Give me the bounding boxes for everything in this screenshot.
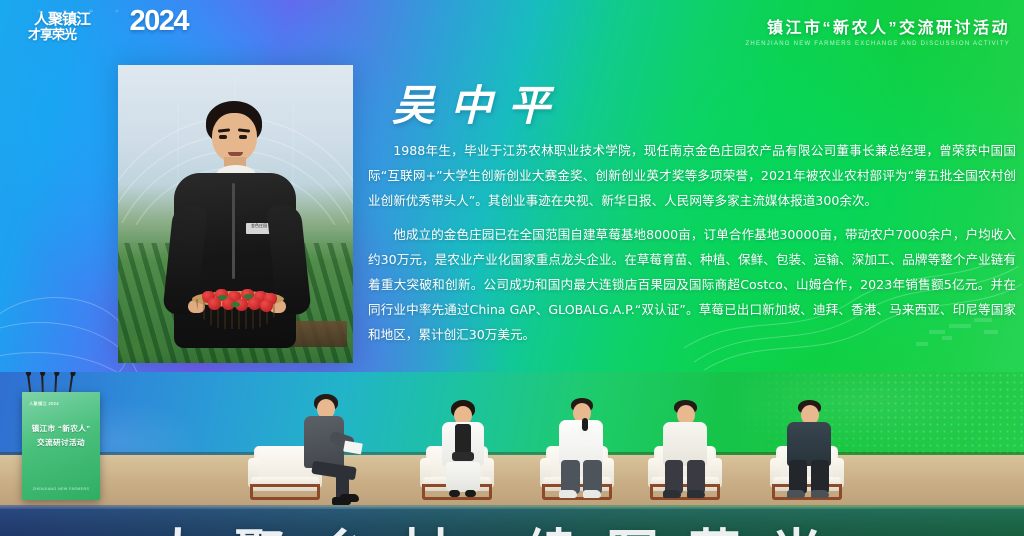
side-banner-line-2: 交流研讨活动 bbox=[22, 437, 100, 448]
panelist-2-hands bbox=[452, 452, 474, 461]
panelist-2 bbox=[438, 400, 488, 500]
portrait-subject: 金色庄园 bbox=[166, 95, 306, 363]
logo-year: 2024 bbox=[129, 5, 188, 38]
presentation-screenshot: 人聚镇江 2024 镇江市 “新农人” 交流研讨活动 ZHENJIANG NEW… bbox=[0, 0, 1024, 536]
side-banner-line-1: 镇江市 “新农人” bbox=[22, 423, 100, 434]
panelist-moderator bbox=[300, 394, 358, 502]
jacket-zipper bbox=[232, 183, 235, 279]
profile-bio: 1988年生，毕业于江苏农林职业技术学院，现任南京金色庄园农产品有限公司董事长兼… bbox=[368, 138, 1016, 347]
portrait-photo: 金色庄园 bbox=[118, 65, 353, 363]
slide-header: 镇江市“新农人”交流研讨活动 ZHENJIANG NEW FARMERS EXC… bbox=[745, 14, 1010, 47]
handheld-microphone bbox=[582, 418, 588, 431]
profile-name: 吴中平 bbox=[392, 72, 566, 133]
logo-line-2: 才享荣光 bbox=[28, 24, 76, 43]
bio-paragraph-1: 1988年生，毕业于江苏农林职业技术学院，现任南京金色庄园农产品有限公司董事长兼… bbox=[368, 138, 1016, 213]
projected-slide: 人聚镇江 才享荣光 2024 镇江市“新农人”交流研讨活动 ZHENJIANG … bbox=[0, 0, 1024, 372]
event-logo: 人聚镇江 才享荣光 2024 bbox=[28, 6, 178, 46]
panelist-5 bbox=[784, 400, 836, 500]
led-wall-dot-pattern bbox=[724, 372, 1024, 462]
side-banner-footer: ZHENJIANG NEW FARMERS bbox=[22, 487, 100, 491]
strawberries bbox=[200, 289, 276, 309]
side-banner-logo: 人聚镇江 2024 bbox=[29, 401, 59, 407]
bio-paragraph-2: 他成立的金色庄园已在全国范围自建草莓基地8000亩，订单合作基地30000亩，带… bbox=[368, 222, 1016, 347]
stage-side-banner: 人聚镇江 2024 镇江市 “新农人” 交流研讨活动 ZHENJIANG NEW… bbox=[22, 392, 100, 500]
header-title-cn: 镇江市“新农人”交流研讨活动 bbox=[745, 14, 1010, 38]
bottom-overlay-tint bbox=[0, 505, 1024, 536]
header-title-en: ZHENJIANG NEW FARMERS EXCHANGE AND DISCU… bbox=[745, 41, 1010, 47]
panelist-3-speaking bbox=[556, 398, 608, 500]
panelist-2-skirt bbox=[446, 462, 480, 492]
strawberry-basket bbox=[192, 291, 284, 333]
panelist-4 bbox=[660, 400, 712, 500]
moderator-cue-card bbox=[343, 441, 363, 455]
panelist-2-inner-top bbox=[455, 424, 471, 454]
